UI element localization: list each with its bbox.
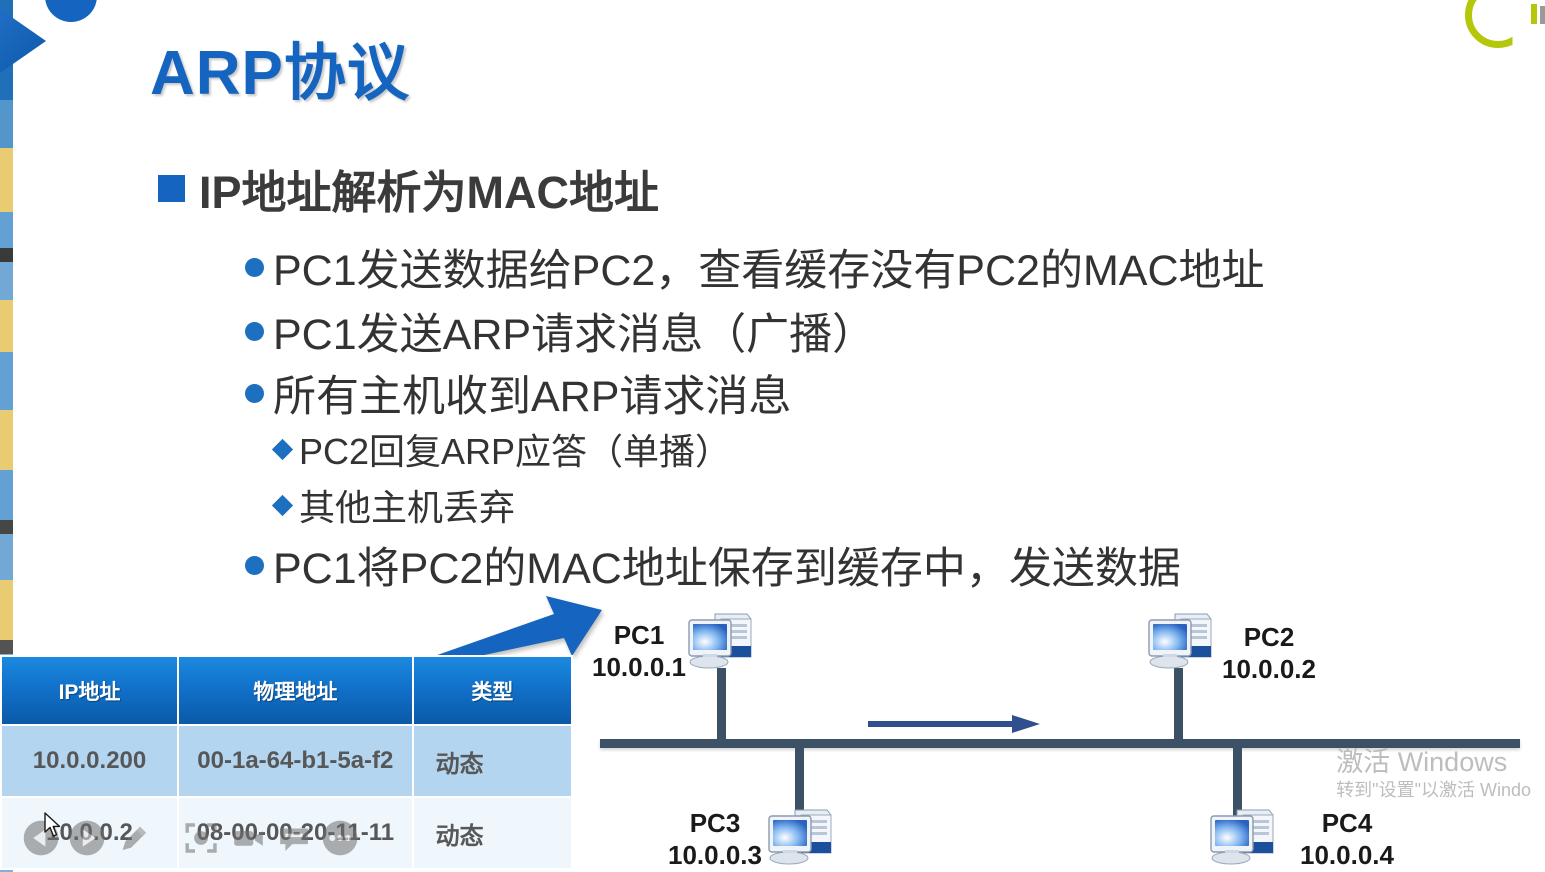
cell-ip: 10.0.0.200 bbox=[1, 725, 178, 797]
focus-icon[interactable] bbox=[182, 816, 220, 860]
dot-bullet-icon bbox=[245, 322, 264, 341]
diamond-bullet-icon bbox=[272, 494, 293, 515]
heading-label: IP地址解析为MAC地址 bbox=[199, 156, 659, 221]
computer-icon-pc4 bbox=[1207, 806, 1279, 868]
play-icon[interactable] bbox=[68, 816, 106, 860]
comment-icon[interactable] bbox=[275, 816, 313, 860]
bullet-label: PC2回复ARP应答（单播） bbox=[299, 423, 731, 475]
table-row: 10.0.0.200 00-1a-64-b1-5a-f2 动态 bbox=[1, 725, 572, 797]
drop-line-pc2 bbox=[1174, 668, 1183, 743]
windows-activation-watermark: 激活 Windows 转到"设置"以激活 Windo bbox=[1336, 748, 1531, 803]
computer-icon-pc1 bbox=[685, 610, 757, 672]
blue-triangle-decoration bbox=[0, 9, 46, 73]
column-header-type: 类型 bbox=[413, 656, 572, 725]
watermark-line-2: 转到"设置"以激活 Windo bbox=[1336, 779, 1531, 802]
bullet-item-2: PC1发送ARP请求消息（广播） bbox=[245, 300, 875, 362]
square-bullet-icon bbox=[158, 175, 185, 202]
green-ring-logo-icon bbox=[1465, 0, 1531, 48]
table-header-row: IP地址 物理地址 类型 bbox=[1, 656, 572, 725]
cell-type: 动态 bbox=[413, 797, 572, 869]
label-pc3: PC3 10.0.0.3 bbox=[668, 808, 762, 871]
bullet-item-5: 其他主机丢弃 bbox=[275, 479, 515, 531]
bullet-label: 其他主机丢弃 bbox=[299, 479, 515, 531]
gray-logo-bar-icon bbox=[1540, 6, 1545, 24]
player-control-bar[interactable] bbox=[22, 812, 367, 864]
column-header-ip: IP地址 bbox=[1, 656, 178, 725]
dot-bullet-icon bbox=[245, 556, 264, 575]
pen-icon[interactable] bbox=[114, 816, 152, 860]
bullet-label: PC1将PC2的MAC地址保存到缓存中，发送数据 bbox=[273, 534, 1181, 596]
page-title: ARP协议 bbox=[150, 22, 410, 112]
computer-icon-pc3 bbox=[765, 806, 837, 868]
mouse-cursor-icon bbox=[44, 812, 62, 838]
blue-circle-decoration bbox=[45, 0, 97, 22]
cell-type: 动态 bbox=[413, 725, 572, 797]
label-pc4: PC4 10.0.0.4 bbox=[1300, 808, 1394, 871]
dot-bullet-icon bbox=[245, 384, 264, 403]
label-pc1: PC1 10.0.0.1 bbox=[592, 620, 686, 683]
network-bus-line bbox=[600, 739, 1520, 748]
bullet-label: PC1发送ARP请求消息（广播） bbox=[273, 300, 875, 362]
diamond-bullet-icon bbox=[272, 438, 293, 459]
watermark-line-1: 激活 Windows bbox=[1336, 748, 1531, 776]
label-pc2: PC2 10.0.0.2 bbox=[1222, 622, 1316, 685]
bullet-item-1: PC1发送数据给PC2，查看缓存没有PC2的MAC地址 bbox=[245, 236, 1265, 298]
bullet-label: PC1发送数据给PC2，查看缓存没有PC2的MAC地址 bbox=[273, 236, 1265, 298]
bullet-label: 所有主机收到ARP请求消息 bbox=[273, 362, 791, 424]
slide-canvas: ARP协议 IP地址解析为MAC地址 PC1发送数据给PC2，查看缓存没有PC2… bbox=[0, 0, 1545, 872]
cell-mac: 00-1a-64-b1-5a-f2 bbox=[178, 725, 413, 797]
heading-ip-to-mac: IP地址解析为MAC地址 bbox=[158, 156, 659, 221]
green-logo-bar-icon bbox=[1531, 4, 1537, 24]
camera-icon[interactable] bbox=[229, 816, 267, 860]
bullet-item-6: PC1将PC2的MAC地址保存到缓存中，发送数据 bbox=[245, 534, 1181, 596]
computer-icon-pc2 bbox=[1145, 610, 1217, 672]
column-header-mac: 物理地址 bbox=[178, 656, 413, 725]
more-icon[interactable] bbox=[321, 816, 359, 860]
drop-line-pc1 bbox=[717, 668, 726, 743]
bullet-item-3: 所有主机收到ARP请求消息 bbox=[245, 362, 791, 424]
dot-bullet-icon bbox=[245, 258, 264, 277]
packet-flow-arrow-icon bbox=[866, 712, 1041, 736]
bullet-item-4: PC2回复ARP应答（单播） bbox=[275, 423, 731, 475]
